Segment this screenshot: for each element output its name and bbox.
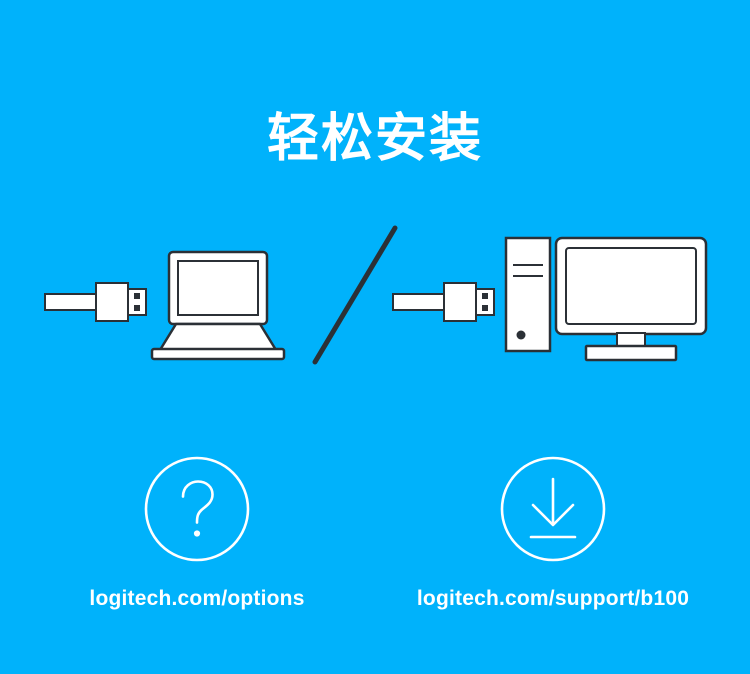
link-block-options[interactable]: logitech.com/options: [47, 455, 347, 611]
usb-cable-left-icon: [45, 294, 99, 310]
monitor-icon: [556, 238, 706, 360]
illustration-svg: [0, 210, 750, 380]
question-mark-circle-icon[interactable]: [143, 455, 251, 563]
download-circle-icon[interactable]: [499, 455, 607, 563]
power-button-icon: [517, 331, 526, 340]
laptop-icon: [152, 252, 284, 359]
usb-cable-right-icon: [393, 294, 447, 310]
poster-root: 轻松安装: [0, 0, 750, 674]
link-label-support[interactable]: logitech.com/support/b100: [403, 587, 703, 611]
diagonal-separator-icon: [315, 228, 395, 362]
illustration-area: [0, 210, 750, 380]
page-title: 轻松安装: [0, 108, 750, 170]
link-block-support[interactable]: logitech.com/support/b100: [403, 455, 703, 611]
usb-connector-right-icon: [444, 283, 494, 321]
left-scene-laptop-setup: [45, 252, 284, 359]
pc-tower-icon: [506, 238, 550, 351]
right-scene-desktop-setup: [393, 238, 706, 360]
link-label-options[interactable]: logitech.com/options: [47, 587, 347, 611]
usb-connector-left-icon: [96, 283, 146, 321]
